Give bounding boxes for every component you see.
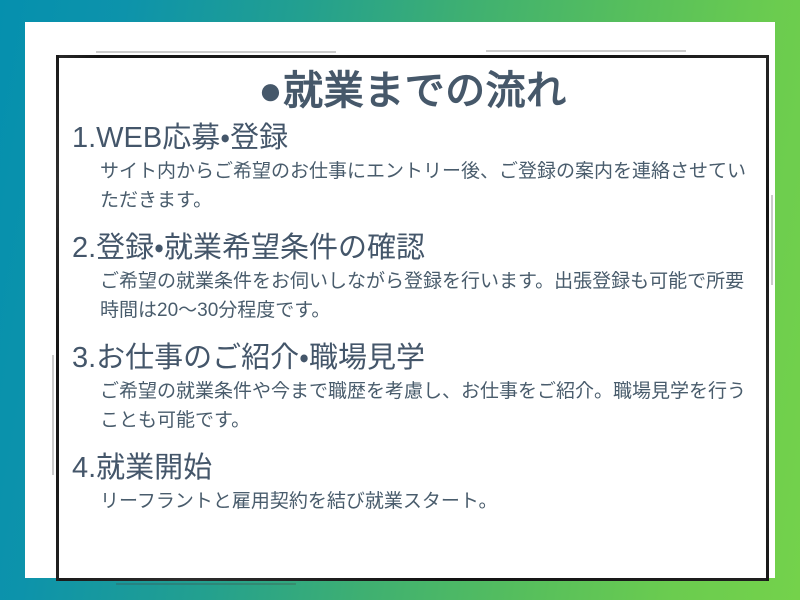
sketch-stroke bbox=[96, 51, 336, 53]
step-1-body: サイト内からご希望のお仕事にエントリー後、ご登録の案内を連絡させていただきます。 bbox=[72, 157, 753, 215]
step-2-heading: 2.登録・就業希望条件の確認 bbox=[72, 229, 753, 267]
sketch-stroke bbox=[52, 355, 54, 475]
step-4-body: リーフラントと雇用契約を結び就業スタート。 bbox=[72, 487, 753, 516]
step-3-heading: 3.お仕事のご紹介・職場見学 bbox=[72, 339, 753, 377]
poster-gradient-frame: ●就業までの流れ 1.WEB応募・登録 サイト内からご希望のお仕事にエントリー後… bbox=[0, 0, 800, 600]
poster-card: ●就業までの流れ 1.WEB応募・登録 サイト内からご希望のお仕事にエントリー後… bbox=[56, 55, 769, 581]
step-1-heading: 1.WEB応募・登録 bbox=[72, 119, 753, 157]
step-item-2: 2.登録・就業希望条件の確認 ご希望の就業条件をお伺いしながら登録を行います。出… bbox=[72, 229, 753, 325]
sketch-stroke bbox=[116, 583, 296, 585]
step-4-heading: 4.就業開始 bbox=[72, 449, 753, 487]
page-title: ●就業までの流れ bbox=[72, 65, 753, 117]
step-3-body: ご希望の就業条件や今まで職歴を考慮し、お仕事をご紹介。職場見学を行うことも可能で… bbox=[72, 377, 753, 435]
poster-white-mat: ●就業までの流れ 1.WEB応募・登録 サイト内からご希望のお仕事にエントリー後… bbox=[25, 22, 775, 578]
step-item-1: 1.WEB応募・登録 サイト内からご希望のお仕事にエントリー後、ご登録の案内を連… bbox=[72, 119, 753, 215]
sketch-stroke bbox=[771, 195, 773, 285]
sketch-stroke bbox=[486, 50, 686, 52]
step-2-body: ご希望の就業条件をお伺いしながら登録を行います。出張登録も可能で所要時間は20〜… bbox=[72, 267, 753, 325]
step-item-3: 3.お仕事のご紹介・職場見学 ご希望の就業条件や今まで職歴を考慮し、お仕事をご紹… bbox=[72, 339, 753, 435]
step-item-4: 4.就業開始 リーフラントと雇用契約を結び就業スタート。 bbox=[72, 449, 753, 516]
poster-content: ●就業までの流れ 1.WEB応募・登録 サイト内からご希望のお仕事にエントリー後… bbox=[56, 55, 769, 581]
